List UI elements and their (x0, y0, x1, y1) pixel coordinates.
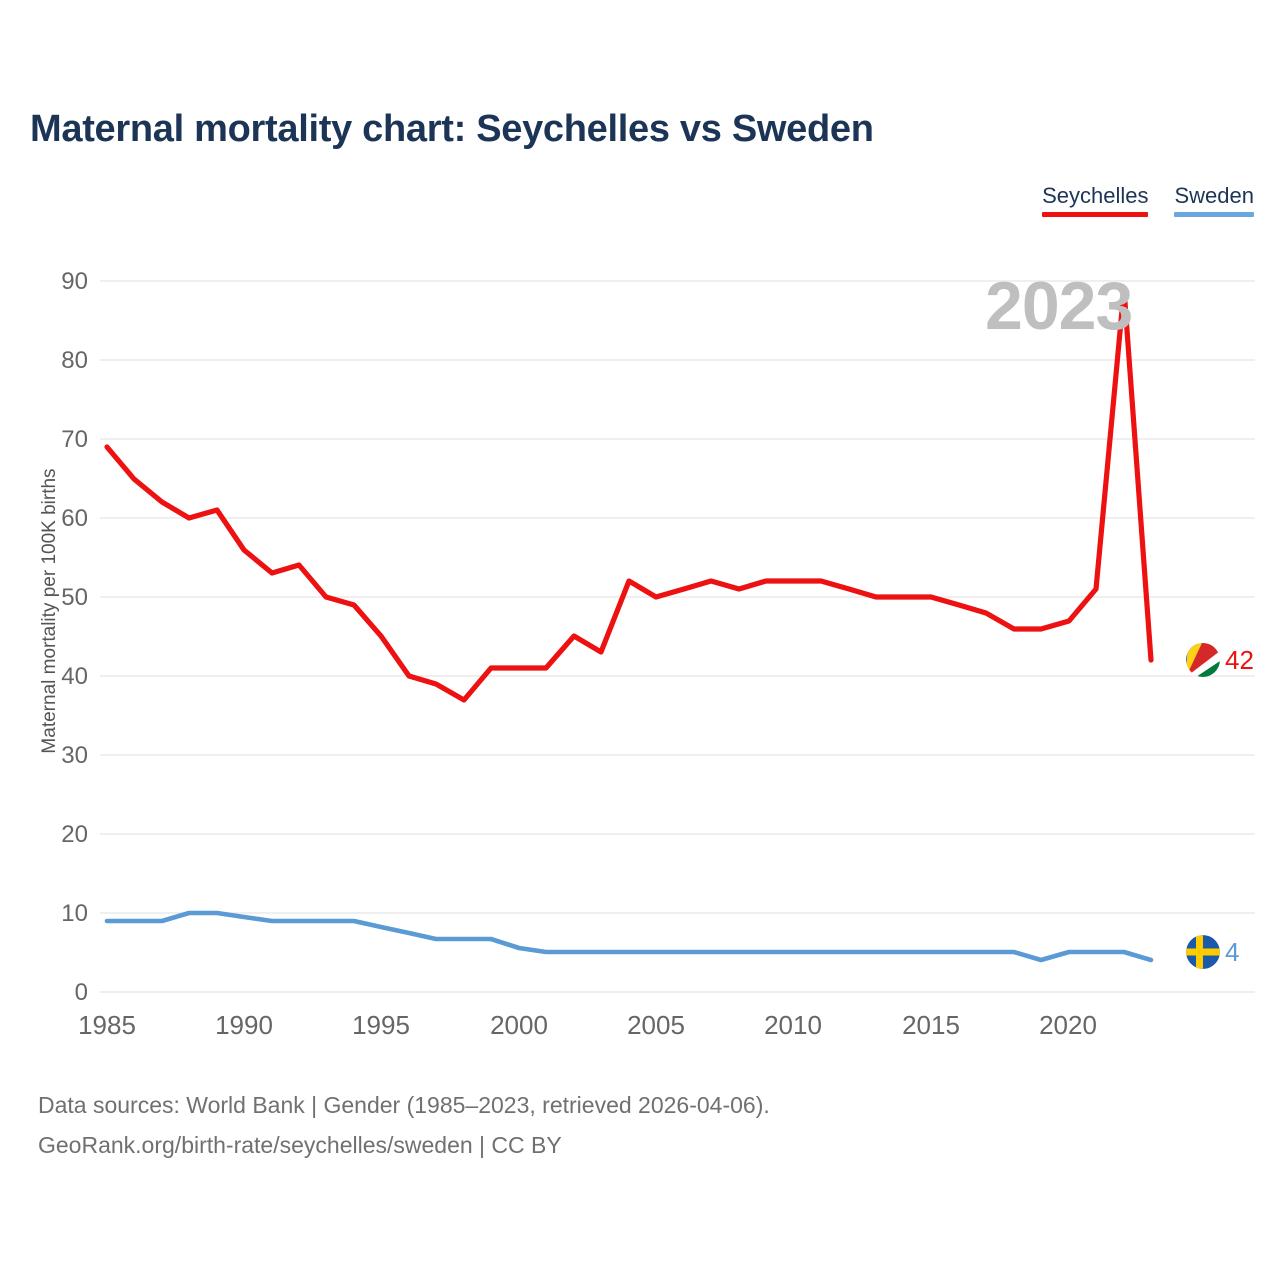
gridlines (100, 281, 1255, 992)
x-tick-label-2010: 2010 (733, 1010, 853, 1041)
x-tick-label-2015: 2015 (871, 1010, 991, 1041)
x-tick-label-1990: 1990 (184, 1010, 304, 1041)
x-tick-label-1985: 1985 (47, 1010, 167, 1041)
chart-footer: Data sources: World Bank | Gender (1985–… (38, 1085, 770, 1165)
seychelles-flag-icon (1186, 643, 1220, 677)
sweden-flag-icon (1186, 935, 1220, 969)
endpoint-sweden[interactable]: 4 (1186, 935, 1239, 969)
x-tick-label-1995: 1995 (321, 1010, 441, 1041)
chart-container: Maternal mortality chart: Seychelles vs … (0, 0, 1280, 1280)
footer-data-sources: Data sources: World Bank | Gender (1985–… (38, 1085, 770, 1125)
endpoint-value-sweden: 4 (1225, 937, 1239, 968)
footer-attribution: GeoRank.org/birth-rate/seychelles/sweden… (38, 1125, 770, 1165)
x-tick-label-2000: 2000 (459, 1010, 579, 1041)
x-tick-label-2005: 2005 (596, 1010, 716, 1041)
endpoint-seychelles[interactable]: 42 (1186, 643, 1254, 677)
year-watermark: 2023 (985, 272, 1132, 340)
series-line-seychelles (107, 289, 1151, 700)
series-line-sweden (107, 913, 1151, 960)
x-tick-label-2020: 2020 (1008, 1010, 1128, 1041)
endpoint-value-seychelles: 42 (1225, 645, 1254, 676)
